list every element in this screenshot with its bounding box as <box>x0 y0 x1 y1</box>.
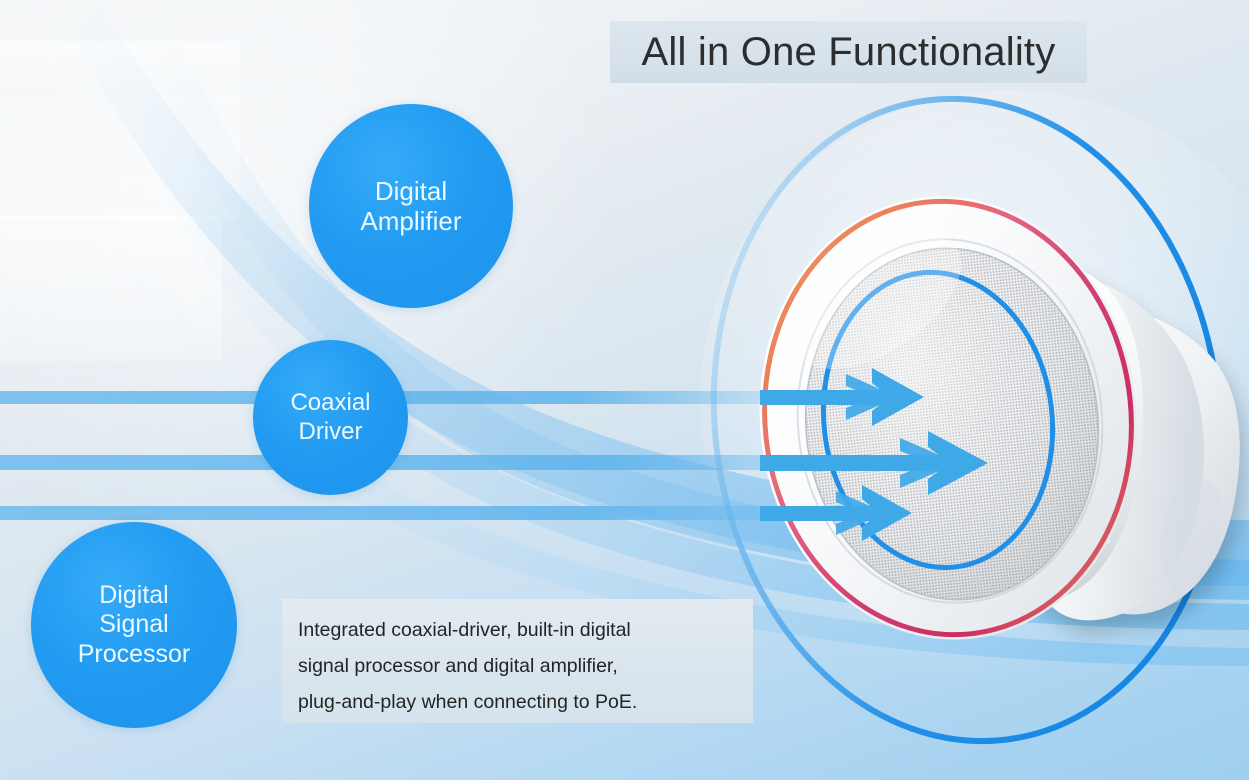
inner-blue-ellipse <box>807 259 1069 581</box>
feature-bubble-label: Digital Signal Processor <box>78 581 191 669</box>
decor-panel-middle <box>0 97 240 220</box>
ribbon-3 <box>100 60 1249 630</box>
description-line-3: plug-and-play when connecting to PoE. <box>298 684 738 720</box>
feature-bubble-digital-amplifier[interactable]: Digital Amplifier <box>309 104 513 308</box>
feature-line-2: Signal <box>78 610 191 639</box>
feature-bubble-label: Coaxial Driver <box>290 389 370 445</box>
feature-line-1: Coaxial <box>290 389 370 417</box>
perforated-grille <box>788 234 1115 615</box>
feature-bubble-label: Digital Amplifier <box>360 176 461 237</box>
feature-bubble-digital-signal-processor[interactable]: Digital Signal Processor <box>31 522 237 728</box>
faceplate-highlight <box>767 203 984 397</box>
decor-panel-bottom <box>0 216 222 361</box>
feature-line-1: Digital <box>360 176 461 206</box>
description-text: Integrated coaxial-driver, built-in digi… <box>298 612 738 720</box>
description-line-1: Integrated coaxial-driver, built-in digi… <box>298 612 738 648</box>
ribbon-1 <box>34 0 1249 586</box>
feature-line-2: Amplifier <box>360 206 461 236</box>
outer-blue-ellipse <box>678 70 1249 771</box>
feature-line-2: Driver <box>290 418 370 446</box>
infographic-canvas: All in One Functionality Digital Amplifi… <box>0 0 1249 780</box>
page-title-box: All in One Functionality <box>610 21 1087 83</box>
ribbon-2 <box>112 0 1249 600</box>
speaker-body <box>1018 261 1240 620</box>
streak-2 <box>0 455 880 470</box>
feature-line-3: Processor <box>78 640 191 669</box>
decor-panel-top <box>0 41 240 101</box>
speaker-faceplate <box>738 178 1158 659</box>
streak-3 <box>0 506 850 520</box>
gradient-rim <box>743 183 1152 653</box>
background-sheen-product <box>700 90 1249 710</box>
sound-arrow-2 <box>760 431 988 495</box>
page-title: All in One Functionality <box>642 32 1056 72</box>
sound-arrow-1 <box>760 368 924 426</box>
streak-1 <box>0 391 830 404</box>
feature-bubble-coaxial-driver[interactable]: Coaxial Driver <box>253 340 408 495</box>
speaker-terminal-detail <box>1060 452 1110 544</box>
sound-arrow-3 <box>760 485 912 541</box>
description-line-2: signal processor and digital amplifier, <box>298 648 738 684</box>
description-box: Integrated coaxial-driver, built-in digi… <box>282 599 753 723</box>
feature-line-1: Digital <box>78 581 191 610</box>
